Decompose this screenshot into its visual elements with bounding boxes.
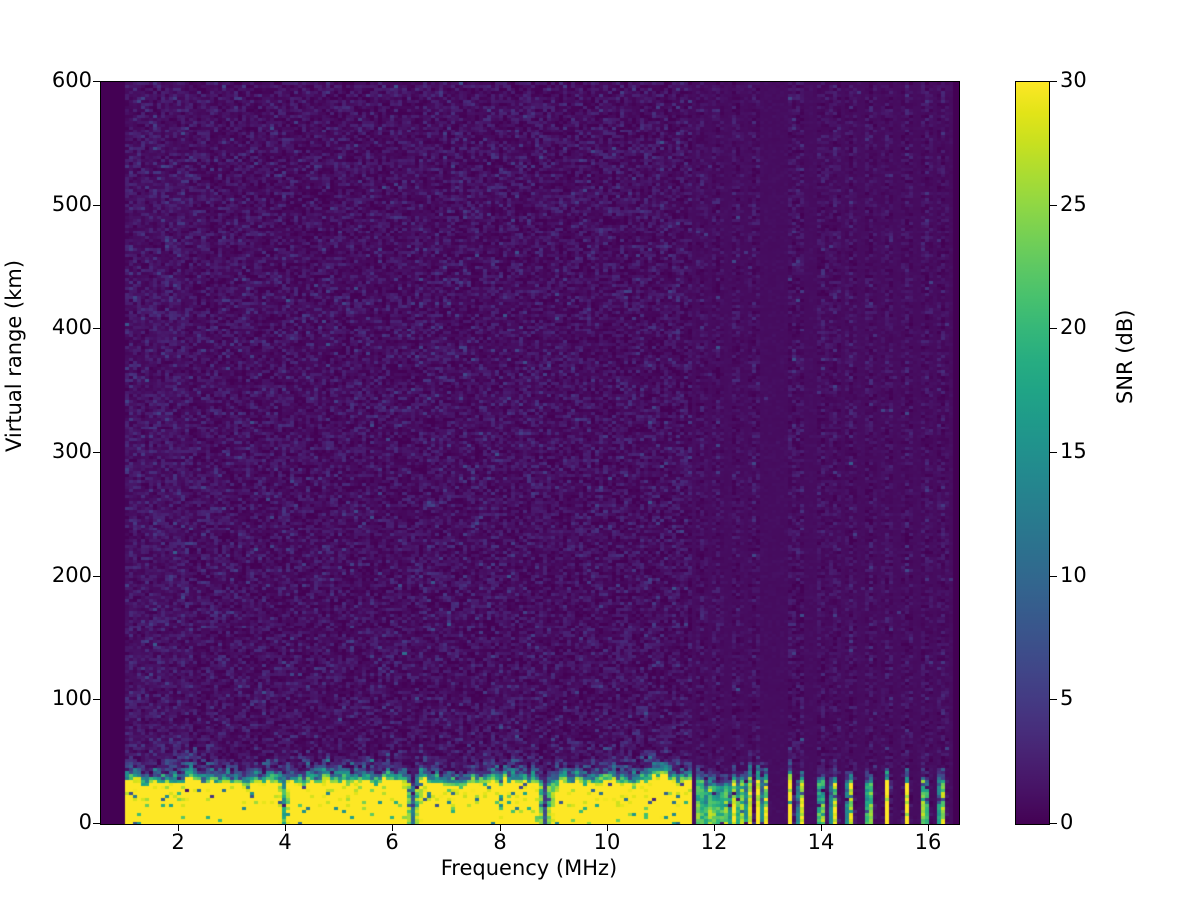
colorbar-tick-mark [1050,823,1057,824]
x-tick-label: 10 [594,832,621,853]
y-tick-label: 400 [52,317,92,338]
colorbar-tick-mark [1050,452,1057,453]
x-tick-label: 2 [171,832,184,853]
colorbar-tick-label: 0 [1060,812,1073,833]
colorbar-tick-mark [1050,81,1057,82]
x-tick-label: 14 [808,832,835,853]
colorbar-gradient [1016,82,1049,824]
colorbar-tick-label: 30 [1060,70,1087,91]
y-tick-mark [93,576,100,577]
y-tick-mark [93,205,100,206]
x-tick-label: 4 [278,832,291,853]
y-tick-label: 0 [79,812,92,833]
ionogram-plot-area[interactable] [100,81,960,825]
x-tick-label: 6 [385,832,398,853]
ionogram-figure: IRF Kiruna Ionosonde KI167 2026-04-10 13… [0,0,1200,900]
y-tick-label: 500 [52,194,92,215]
colorbar-tick-label: 5 [1060,688,1073,709]
x-tick-label: 8 [493,832,506,853]
y-tick-label: 600 [52,70,92,91]
colorbar-label: SNR (dB) [1113,310,1137,404]
ionogram-heatmap-canvas [101,82,959,824]
colorbar-tick-label: 25 [1060,194,1087,215]
y-tick-mark [93,823,100,824]
colorbar-tick-label: 15 [1060,441,1087,462]
y-tick-mark [93,328,100,329]
colorbar[interactable] [1015,81,1050,825]
y-axis-label: Virtual range (km) [2,424,26,452]
colorbar-tick-mark [1050,576,1057,577]
y-tick-label: 200 [52,565,92,586]
colorbar-tick-label: 20 [1060,317,1087,338]
y-tick-mark [93,699,100,700]
y-tick-mark [93,81,100,82]
x-tick-label: 16 [915,832,942,853]
colorbar-tick-mark [1050,205,1057,206]
y-tick-label: 300 [52,441,92,462]
colorbar-tick-mark [1050,328,1057,329]
x-axis-label: Frequency (MHz) [100,856,958,880]
x-tick-label: 12 [701,832,728,853]
y-tick-label: 100 [52,688,92,709]
colorbar-tick-mark [1050,699,1057,700]
y-tick-mark [93,452,100,453]
colorbar-tick-label: 10 [1060,565,1087,586]
